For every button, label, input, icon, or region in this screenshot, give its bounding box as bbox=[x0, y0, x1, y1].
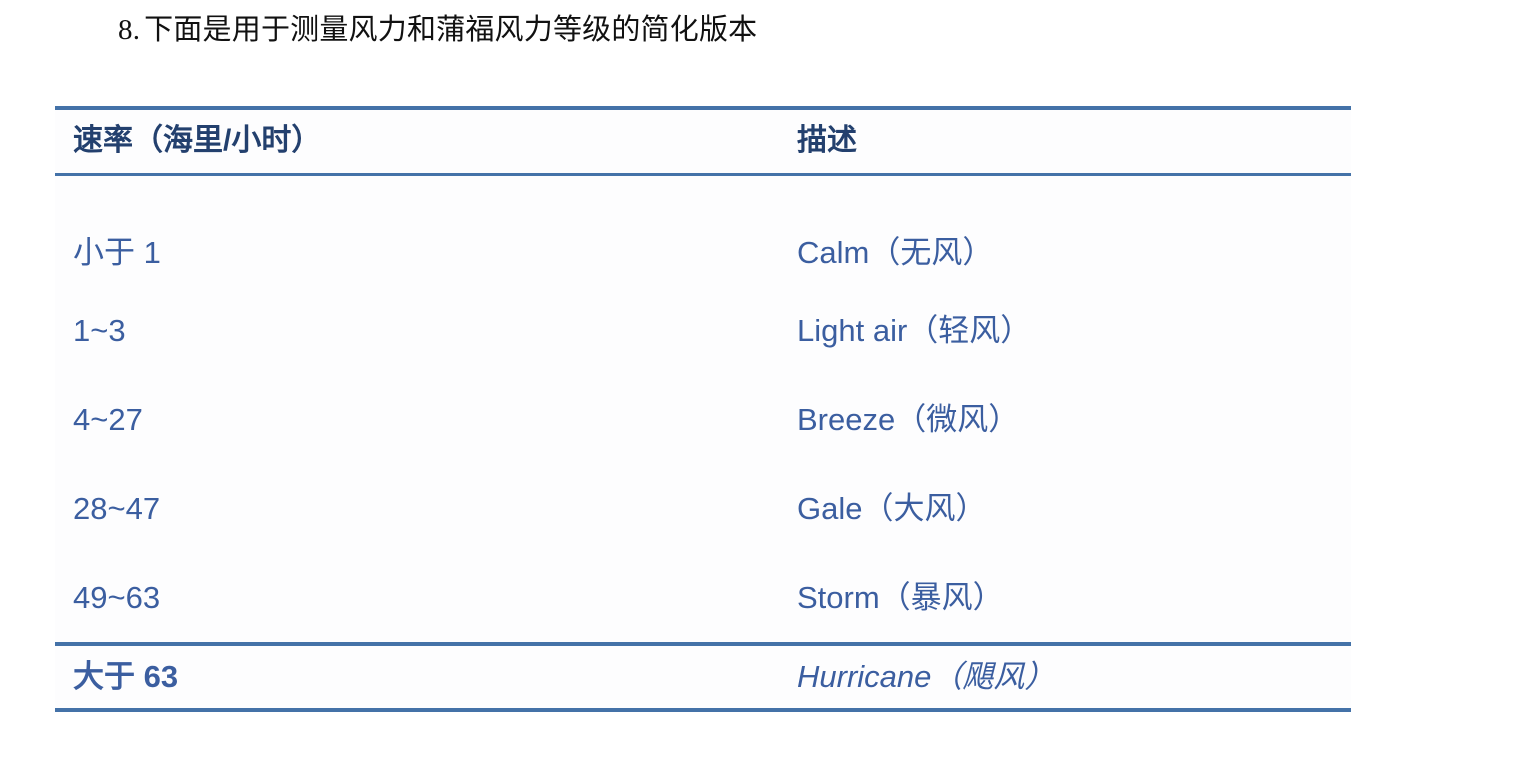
cell-description: Light air（轻风） bbox=[777, 286, 1351, 375]
table-body: 小于 1 Calm（无风） 1~3 Light air（轻风） 4~27 Bre… bbox=[55, 175, 1351, 711]
cell-description: Gale（大风） bbox=[777, 464, 1351, 553]
table-row: 小于 1 Calm（无风） bbox=[55, 175, 1351, 287]
question-text: 下面是用于测量风力和蒲福风力等级的简化版本 bbox=[144, 14, 757, 46]
question-number: 8. bbox=[118, 14, 140, 46]
cell-speed: 1~3 bbox=[55, 286, 777, 375]
cell-description: Storm（暴风） bbox=[777, 553, 1351, 644]
question-heading: 8.下面是用于测量风力和蒲福风力等级的简化版本 bbox=[118, 8, 757, 52]
table-row-last: 大于 63 Hurricane（飓风） bbox=[55, 644, 1351, 710]
cell-speed: 大于 63 bbox=[55, 644, 777, 710]
table-header-row: 速率（海里/小时） 描述 bbox=[55, 108, 1351, 175]
cell-description: Breeze（微风） bbox=[777, 375, 1351, 464]
wind-scale-table: 速率（海里/小时） 描述 小于 1 Calm（无风） 1~3 Light air… bbox=[55, 106, 1351, 712]
table-row: 49~63 Storm（暴风） bbox=[55, 553, 1351, 644]
column-header-description: 描述 bbox=[777, 108, 1351, 175]
cell-speed: 小于 1 bbox=[55, 175, 777, 287]
cell-description: Calm（无风） bbox=[777, 175, 1351, 287]
table-header: 速率（海里/小时） 描述 bbox=[55, 108, 1351, 175]
cell-speed: 49~63 bbox=[55, 553, 777, 644]
table-row: 28~47 Gale（大风） bbox=[55, 464, 1351, 553]
cell-speed: 28~47 bbox=[55, 464, 777, 553]
table-row: 1~3 Light air（轻风） bbox=[55, 286, 1351, 375]
cell-description: Hurricane（飓风） bbox=[777, 644, 1351, 710]
column-header-speed: 速率（海里/小时） bbox=[55, 108, 777, 175]
table-row: 4~27 Breeze（微风） bbox=[55, 375, 1351, 464]
cell-speed: 4~27 bbox=[55, 375, 777, 464]
